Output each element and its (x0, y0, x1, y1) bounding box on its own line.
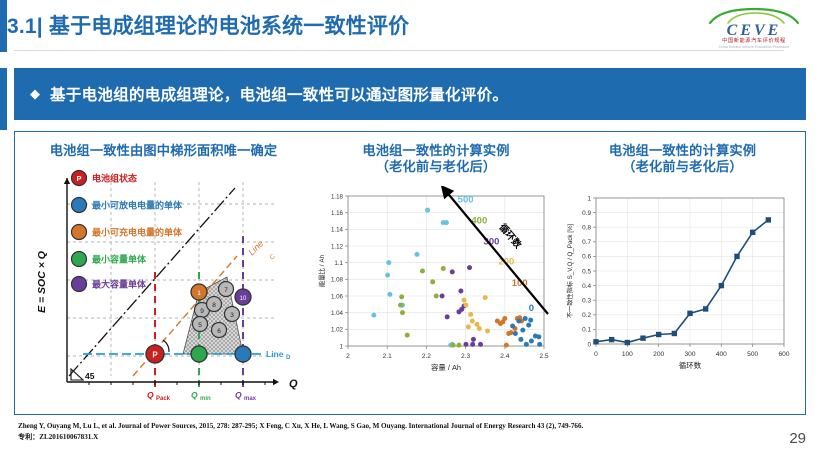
cell-label-3: 3 (230, 312, 234, 319)
diagram-legend: P 电池组状态 最小可放电电量的单体 最小可充电电量的单体 最小容量单体 最大容… (72, 171, 184, 292)
y-tick-label: 1.1 (334, 260, 343, 267)
legend-marker-min-capacity (72, 252, 87, 267)
panel-left-title: 电池组一致性由图中梯形面积唯一确定 (15, 132, 312, 159)
panel-right-title-line2: （老化前与老化后） (560, 159, 805, 175)
scatter-point (483, 295, 488, 300)
trapezoid-area-diagram: Line C Line D (23, 164, 305, 408)
scatter-point (477, 326, 482, 331)
y-tick-label: 0.4 (582, 283, 591, 290)
scatter-point (513, 331, 518, 336)
cell-label-10: 10 (240, 296, 247, 302)
line-c-label: Line (246, 238, 265, 257)
cell-label-5: 5 (198, 322, 202, 329)
legend-label-min-capacity: 最小容量单体 (92, 254, 147, 265)
legend-label-min-chargeable: 最小可充电电量的单体 (92, 227, 183, 238)
x-tick-label: 2.1 (383, 353, 392, 360)
y-tick-label: 0.3 (582, 298, 591, 305)
scatter-point (400, 310, 405, 315)
title-band: 3.1| 基于电成组理论的电池系统一致性评价 (7, 8, 707, 46)
y-tick-label: 1.14 (331, 227, 344, 234)
x-axis-title: 循环数 (679, 361, 702, 370)
scatter-point (420, 269, 425, 274)
legend-marker-max-capacity (72, 277, 87, 292)
y-tick-label: 1 (340, 343, 344, 350)
y-tick-label: 0 (587, 341, 591, 348)
line-data-marker (625, 340, 629, 344)
scatter-point (430, 279, 435, 284)
citation-line: Zheng Y, Ouyang M, Lu L, et al. Journal … (18, 421, 758, 432)
x-tick-label: 300 (684, 351, 695, 358)
line-data-marker (735, 254, 739, 258)
line-data-marker (750, 230, 754, 234)
logo-en-line: China Electric Vehicle Evaluation Proced… (702, 45, 806, 50)
scatter-point (467, 265, 472, 270)
line-data-marker (656, 332, 660, 336)
legend-marker-min-chargeable (72, 225, 87, 240)
panel-right-title-line1: 电池组一致性的计算实例 (609, 143, 756, 158)
line-d-label: Line (266, 349, 284, 359)
y-tick-label: 0.2 (582, 312, 591, 319)
y-axis-title: E = SOC × Q (36, 251, 48, 313)
line-data-marker (641, 336, 645, 340)
cell-label-9: 9 (200, 308, 204, 315)
scatter-point (524, 342, 529, 347)
line-chart-inconsistency: 010020030040050060000.10.20.30.40.50.60.… (562, 186, 805, 386)
angle-glyph-icon (71, 369, 83, 380)
title-accent-bar (0, 0, 7, 52)
y-axis-title: 不一致性指标 S_V,Q / Q_Pack [%] (566, 224, 574, 319)
x-tick-label: 2.4 (500, 353, 509, 360)
y-tick-label: 0.7 (582, 239, 591, 246)
scatter-point (510, 324, 515, 329)
line-data-marker (688, 311, 692, 315)
line-data-marker (609, 337, 613, 341)
y-tick-label: 1.18 (331, 193, 344, 200)
scatter-point (414, 252, 419, 257)
diamond-bullet-icon: ◆ (30, 86, 40, 102)
scatter-point (458, 289, 463, 294)
line-data-marker (703, 307, 707, 311)
y-tick-label: 1 (587, 195, 591, 202)
y-tick-label: 1.08 (331, 277, 344, 284)
y-tick-label: 1.12 (331, 243, 344, 250)
scatter-point (516, 319, 521, 324)
angle-arc-icon (163, 340, 169, 352)
y-tick-label: 0.9 (582, 210, 591, 217)
x-tick-label: 2.3 (461, 353, 470, 360)
y-tick-label: 1.16 (331, 210, 344, 217)
panel-middle-title: 电池组一致性的计算实例 （老化前与老化后） (312, 132, 560, 175)
x-tick-label: 400 (716, 351, 727, 358)
scatter-point (371, 313, 376, 318)
scatter-point (440, 294, 445, 299)
scatter-point (502, 316, 507, 321)
cell-label-8: 8 (212, 302, 216, 309)
x-tick-label: 500 (747, 351, 758, 358)
plot-frame (348, 196, 544, 346)
x-tick-qmin: Q (191, 390, 198, 400)
x-tick-qpack-sub: Pack (156, 396, 171, 402)
footer-citation-block: Zheng Y, Ouyang M, Lu L, et al. Journal … (18, 421, 758, 442)
scatter-point (463, 342, 468, 347)
cell-label-6: 6 (217, 328, 221, 335)
cycle-label-500: 500 (458, 195, 474, 206)
panel-right-title: 电池组一致性的计算实例 （老化前与老化后） (560, 132, 805, 175)
scatter-point (471, 337, 476, 342)
x-tick-label: 2.5 (539, 353, 548, 360)
y-tick-label: 0.8 (582, 225, 591, 232)
banner-accent-bar (0, 68, 7, 130)
panel-left: 电池组一致性由图中梯形面积唯一确定 (15, 132, 312, 414)
y-tick-label: 1.02 (331, 327, 344, 334)
line-d-sublabel: D (286, 355, 291, 361)
line-data-marker (719, 283, 723, 287)
scatter-point (425, 208, 430, 213)
scatter-point (529, 339, 534, 344)
line-c-sublabel: C (268, 253, 276, 261)
bullet-banner: ◆ 基于电池组的电成组理论，电池组一致性可以通过图形量化评价。 (14, 68, 806, 120)
scatter-point (509, 330, 514, 335)
legend-marker-min-dischargeable (72, 198, 87, 213)
y-tick-label: 0.1 (582, 327, 591, 334)
x-tick-label: 600 (778, 351, 789, 358)
y-tick-label: 0.6 (582, 254, 591, 261)
legend-label-min-dischargeable: 最小可放电电量的单体 (92, 200, 183, 211)
content-frame: 电池组一致性由图中梯形面积唯一确定 (14, 131, 806, 415)
scatter-point (441, 266, 446, 271)
scatter-point (523, 316, 528, 321)
y-tick-label: 0.5 (582, 268, 591, 275)
line-data-marker (672, 331, 676, 335)
point-pack-state-label: P (152, 351, 158, 360)
ceve-logo: CEVE 中国新能源汽车评价规程 China Electric Vehicle … (702, 8, 806, 52)
scatter-point (468, 312, 473, 317)
angle-label: 45 (85, 371, 95, 381)
y-tick-label: 1.04 (331, 310, 344, 317)
x-tick-label: 2.2 (422, 353, 431, 360)
x-axis-title: 容量 / Ah (431, 363, 461, 372)
panel-middle-title-line1: 电池组一致性的计算实例 (362, 143, 509, 158)
scatter-point (537, 342, 542, 347)
line-data-marker (594, 340, 598, 344)
scatter-point (485, 329, 490, 334)
point-min-capacity (191, 346, 207, 362)
scatter-point (463, 303, 468, 308)
line-data-marker (766, 218, 770, 222)
panel-middle-title-line2: （老化前与老化后） (312, 159, 560, 175)
scatter-point (385, 273, 390, 278)
logo-wordmark: CEVE (702, 23, 806, 38)
scatter-point (528, 318, 533, 323)
scatter-point (456, 343, 461, 348)
x-tick-label: 2 (346, 353, 350, 360)
scatter-point (405, 333, 410, 338)
x-tick-label: 100 (622, 351, 633, 358)
y-axis-arrow (64, 178, 70, 184)
scatter-point (478, 342, 483, 347)
scatter-point (387, 292, 392, 297)
scatter-point (470, 319, 475, 324)
scatter-point (466, 324, 471, 329)
scatter-point (450, 269, 455, 274)
scatter-point (399, 294, 404, 299)
scatter-point (536, 334, 541, 339)
line-series (596, 220, 768, 343)
scatter-point (504, 343, 509, 348)
banner-text: 基于电池组的电成组理论，电池组一致性可以通过图形量化评价。 (50, 83, 508, 105)
page-number: 29 (789, 430, 806, 447)
scatter-point (470, 342, 475, 347)
panel-middle: 电池组一致性的计算实例 （老化前与老化后） 22.12.22.32.42.511… (312, 132, 560, 414)
x-tick-qmax: Q (235, 390, 242, 400)
legend-label-max-capacity: 最大容量单体 (92, 279, 147, 290)
x-tick-label: 0 (594, 351, 598, 358)
scatter-point (520, 328, 525, 333)
x-axis-title: Q (289, 378, 298, 390)
scatter-point (445, 314, 450, 319)
patent-line: 专利：ZL201610067831.X (18, 432, 758, 443)
scatter-point (451, 343, 456, 348)
x-tick-label: 200 (653, 351, 664, 358)
scatter-point (526, 323, 531, 328)
cycle-count-annotation: 循环数 (497, 221, 525, 251)
scatter-point (434, 294, 439, 299)
scatter-chart-aging: 22.12.22.32.42.511.021.041.061.081.11.12… (312, 186, 560, 386)
cycle-direction-arrow (445, 190, 548, 314)
title-divider (14, 50, 784, 51)
y-axis-title: 能量比 / Ah (317, 254, 326, 287)
cell-label-7: 7 (224, 287, 228, 294)
panel-right: 电池组一致性的计算实例 （老化前与老化后） 010020030040050060… (560, 132, 805, 414)
x-tick-qpack: Q (147, 390, 154, 400)
legend-marker-p-letter: P (76, 174, 81, 183)
cell-label-1: 1 (197, 290, 201, 297)
cycle-label-0: 0 (529, 303, 534, 314)
scatter-point (386, 260, 391, 265)
x-axis-arrow (273, 379, 279, 385)
x-tick-qmin-sub: min (200, 396, 211, 402)
scatter-point (518, 337, 523, 342)
scatter-point (398, 303, 403, 308)
scatter-point (444, 220, 449, 225)
scatter-point (462, 298, 467, 303)
legend-label-pack-state: 电池组状态 (92, 173, 137, 184)
point-min-dischargeable (235, 346, 251, 362)
x-tick-qmax-sub: max (244, 396, 257, 402)
logo-cn-line: 中国新能源汽车评价规程 (702, 38, 806, 45)
y-tick-label: 1.06 (331, 293, 344, 300)
page-title: 3.1| 基于电成组理论的电池系统一致性评价 (7, 8, 707, 46)
